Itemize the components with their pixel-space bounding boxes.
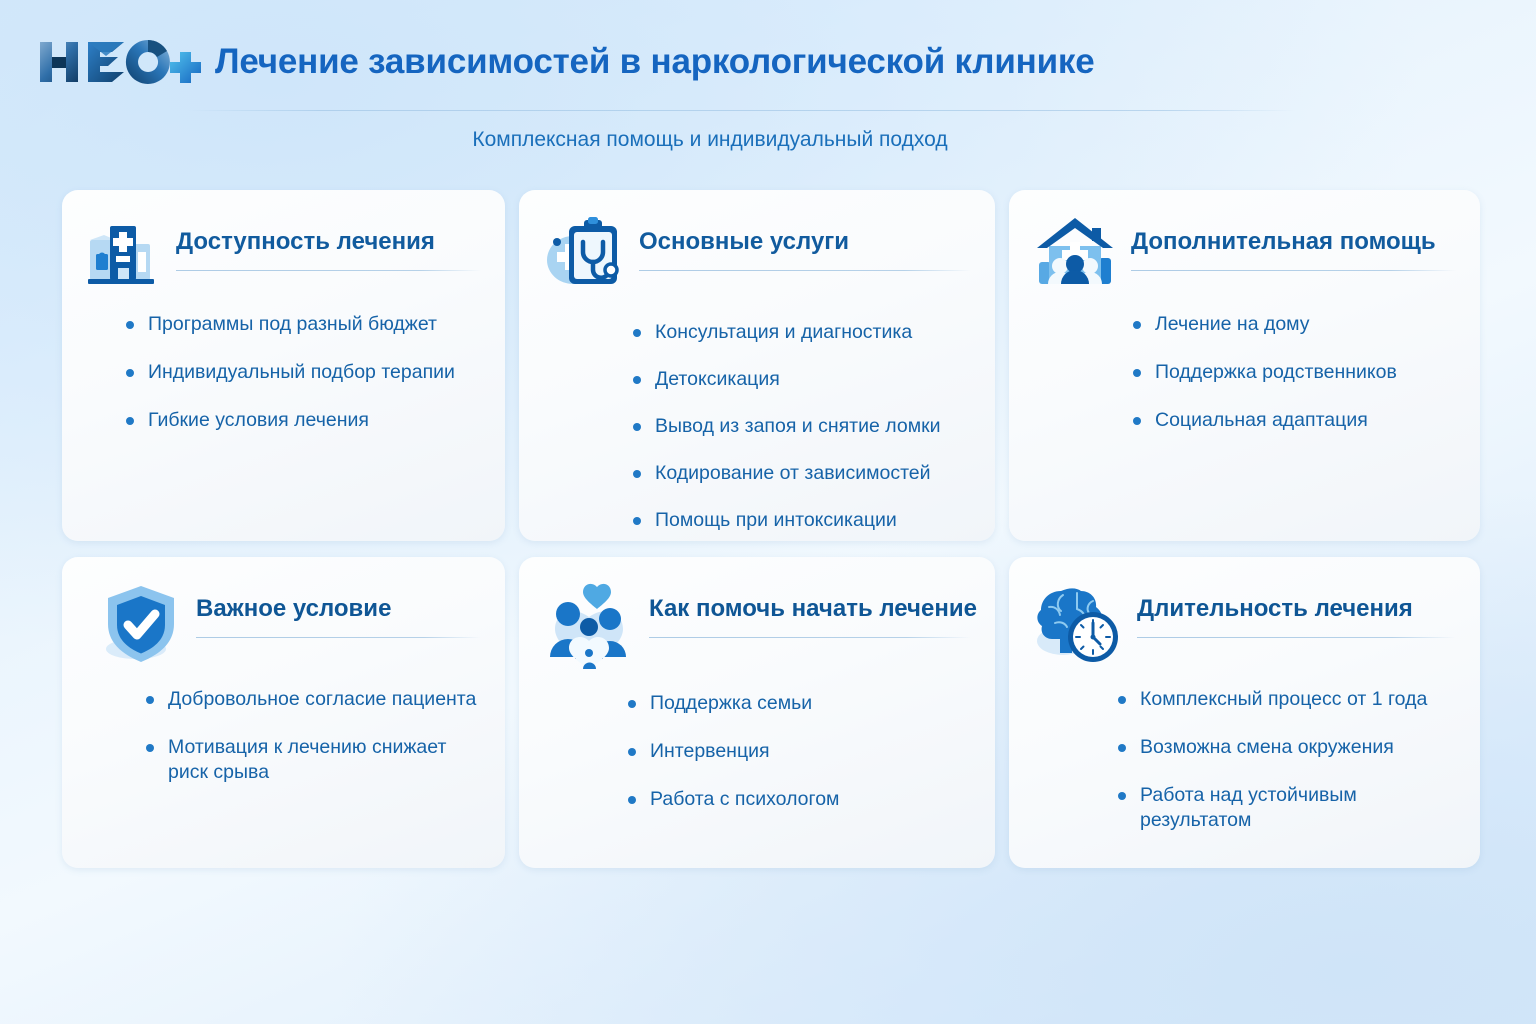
header-row: Лечение зависимостей в наркологической к… [0, 0, 1536, 88]
title-divider [1137, 637, 1456, 638]
list-item: Лечение на дому [1133, 312, 1456, 337]
neo-plus-logo [36, 36, 201, 88]
list-item: Помощь при интоксикации [633, 508, 971, 533]
card-header: Доступность лечения [86, 216, 481, 290]
list-item: Возможна смена окружения [1118, 735, 1456, 760]
list-item: Добровольное согласие пациента [146, 687, 481, 712]
bullet-list: Программы под разный бюджет Индивидуальн… [86, 312, 481, 433]
list-item: Интервенция [628, 739, 971, 764]
house-family-cross-icon [1033, 216, 1117, 290]
list-item: Поддержка семьи [628, 691, 971, 716]
hospital-building-icon [86, 216, 162, 290]
list-item: Поддержка родственников [1133, 360, 1456, 385]
shield-check-icon [100, 583, 182, 665]
list-item: Консультация и диагностика [633, 320, 971, 345]
card-grid: Доступность лечения Программы под разный… [62, 190, 1474, 868]
card-additional-help[interactable]: Дополнительная помощь Лечение на дому По… [1009, 190, 1480, 541]
bullet-list: Поддержка семьи Интервенция Работа с пси… [543, 691, 971, 812]
list-item: Социальная адаптация [1133, 408, 1456, 433]
list-item: Вывод из запоя и снятие ломки [633, 414, 971, 439]
card-title-block: Основные услуги [639, 216, 971, 271]
title-divider [649, 637, 971, 638]
bullet-list: Комплексный процесс от 1 года Возможна с… [1033, 687, 1456, 833]
list-item: Кодирование от зависимостей [633, 461, 971, 486]
title-divider [176, 270, 481, 271]
card-title: Важное условие [196, 595, 481, 623]
card-title-block: Доступность лечения [176, 216, 481, 271]
card-header: Важное условие [86, 583, 481, 665]
bullet-list: Консультация и диагностика Детоксикация … [543, 320, 971, 533]
page-title: Лечение зависимостей в наркологической к… [215, 43, 1095, 82]
card-availability[interactable]: Доступность лечения Программы под разный… [62, 190, 505, 541]
list-item: Работа с психологом [628, 787, 971, 812]
list-item: Индивидуальный подбор терапии [126, 360, 481, 385]
card-how-to-start[interactable]: Как помочь начать лечение Поддержка семь… [519, 557, 995, 868]
card-title: Длительность лечения [1137, 595, 1456, 623]
page-subtitle: Комплексная помощь и индивидуальный подх… [0, 128, 1420, 152]
card-title: Как помочь начать лечение [649, 595, 971, 623]
card-title-block: Как помочь начать лечение [649, 583, 971, 638]
header-divider [186, 110, 1296, 111]
family-heart-icon [543, 583, 635, 669]
title-divider [196, 637, 481, 638]
bullet-list: Добровольное согласие пациента Мотивация… [86, 687, 481, 785]
list-item: Работа над устойчивым результатом [1118, 783, 1456, 833]
card-main-services[interactable]: Основные услуги Консультация и диагности… [519, 190, 995, 541]
title-divider [639, 270, 971, 271]
card-title-block: Длительность лечения [1137, 583, 1456, 638]
brain-clock-icon [1033, 583, 1123, 665]
card-title: Дополнительная помощь [1131, 228, 1456, 256]
card-title: Доступность лечения [176, 228, 481, 256]
list-item: Детоксикация [633, 367, 971, 392]
list-item: Комплексный процесс от 1 года [1118, 687, 1456, 712]
list-item: Гибкие условия лечения [126, 408, 481, 433]
list-item: Программы под разный бюджет [126, 312, 481, 337]
title-divider [1131, 270, 1456, 271]
page-header: Лечение зависимостей в наркологической к… [0, 0, 1536, 178]
card-title-block: Дополнительная помощь [1131, 216, 1456, 271]
card-header: Длительность лечения [1033, 583, 1456, 665]
card-header: Как помочь начать лечение [543, 583, 971, 669]
clipboard-stethoscope-icon [543, 216, 625, 296]
card-header: Дополнительная помощь [1033, 216, 1456, 290]
card-treatment-duration[interactable]: Длительность лечения Комплексный процесс… [1009, 557, 1480, 868]
card-important-condition[interactable]: Важное условие Добровольное согласие пац… [62, 557, 505, 868]
card-title-block: Важное условие [196, 583, 481, 638]
list-item: Мотивация к лечению снижает риск срыва [146, 735, 481, 785]
card-title: Основные услуги [639, 228, 971, 256]
card-header: Основные услуги [543, 216, 971, 296]
bullet-list: Лечение на дому Поддержка родственников … [1033, 312, 1456, 433]
